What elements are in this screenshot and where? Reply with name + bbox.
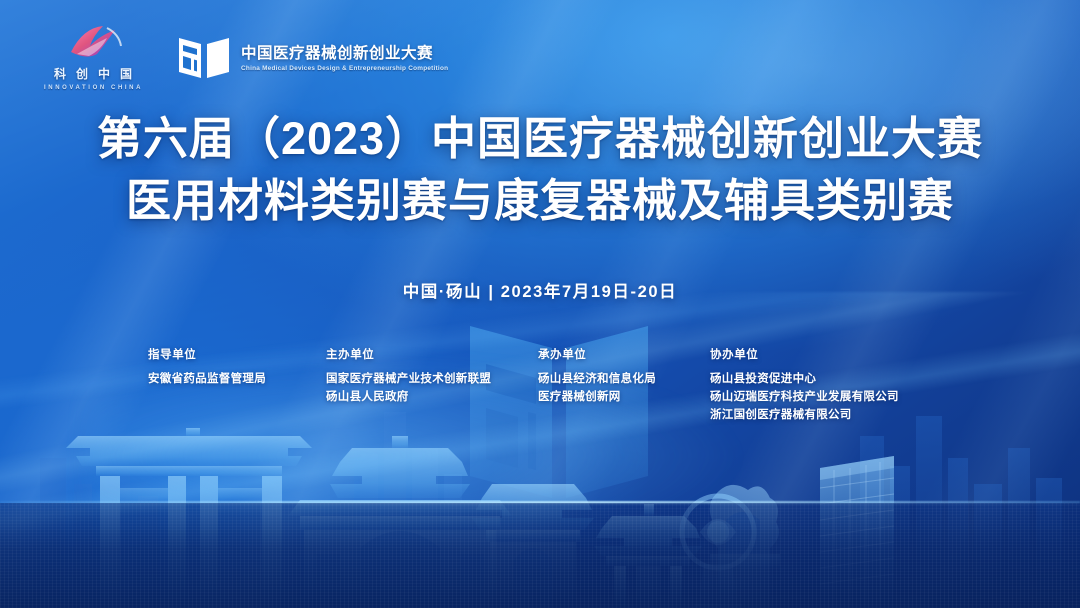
competition-logo: 中国医疗器械创新创业大赛 China Medical Devices Desig… [177,34,448,80]
poster-title: 第六届（2023）中国医疗器械创新创业大赛 医用材料类别赛与康复器械及辅具类别赛 [0,108,1080,232]
phoenix-bird-emblem [63,22,125,62]
competition-name-en: China Medical Devices Design & Entrepren… [241,65,448,72]
title-line-2: 医用材料类别赛与康复器械及辅具类别赛 [0,170,1080,232]
kc-char-1: 科 [54,65,67,82]
organizer-unit: 安徽省药品监督管理局 [148,370,326,388]
organizer-unit: 浙江国创医疗器械有限公司 [710,406,899,424]
organizer-column-coorganizer: 协办单位 砀山县投资促进中心 砀山迈瑞医疗科技产业发展有限公司 浙江国创医疗器械… [710,346,899,424]
organizer-column-guiding: 指导单位 安徽省药品监督管理局 [148,346,326,388]
organizer-unit: 医疗器械创新网 [538,388,710,406]
innovation-china-logo: 科 创 中 国 INNOVATION CHINA [44,22,143,91]
kc-char-4: 国 [120,65,133,82]
innovation-china-en: INNOVATION CHINA [44,85,143,91]
innovation-china-cn: 科 创 中 国 [54,65,133,82]
organizer-unit: 国家医疗器械产业技术创新联盟 [326,370,538,388]
organizer-column-host: 主办单位 国家医疗器械产业技术创新联盟 砀山县人民政府 [326,346,538,406]
organizers-section: 指导单位 安徽省药品监督管理局 主办单位 国家医疗器械产业技术创新联盟 砀山县人… [148,346,1010,424]
organizer-unit: 砀山县投资促进中心 [710,370,899,388]
organizer-role-label: 协办单位 [710,346,899,362]
organizer-unit: 砀山县人民政府 [326,388,538,406]
kc-char-3: 中 [98,65,111,82]
competition-name-cn: 中国医疗器械创新创业大赛 [241,41,448,63]
organizer-unit: 砀山县经济和信息化局 [538,370,710,388]
conference-poster: 科 创 中 国 INNOVATION CHINA 中国医疗器械创新创业大赛 [0,0,1080,608]
organizer-role-label: 主办单位 [326,346,538,362]
title-line-1: 第六届（2023）中国医疗器械创新创业大赛 [0,108,1080,170]
logo-bar: 科 创 中 国 INNOVATION CHINA 中国医疗器械创新创业大赛 [44,22,448,91]
organizer-column-undertaker: 承办单位 砀山县经济和信息化局 医疗器械创新网 [538,346,710,406]
open-book-window-emblem [177,34,231,80]
organizer-role-label: 承办单位 [538,346,710,362]
organizer-role-label: 指导单位 [148,346,326,362]
event-location-date: 中国·砀山 | 2023年7月19日-20日 [0,278,1080,302]
organizer-unit: 砀山迈瑞医疗科技产业发展有限公司 [710,388,899,406]
kc-char-2: 创 [76,65,89,82]
